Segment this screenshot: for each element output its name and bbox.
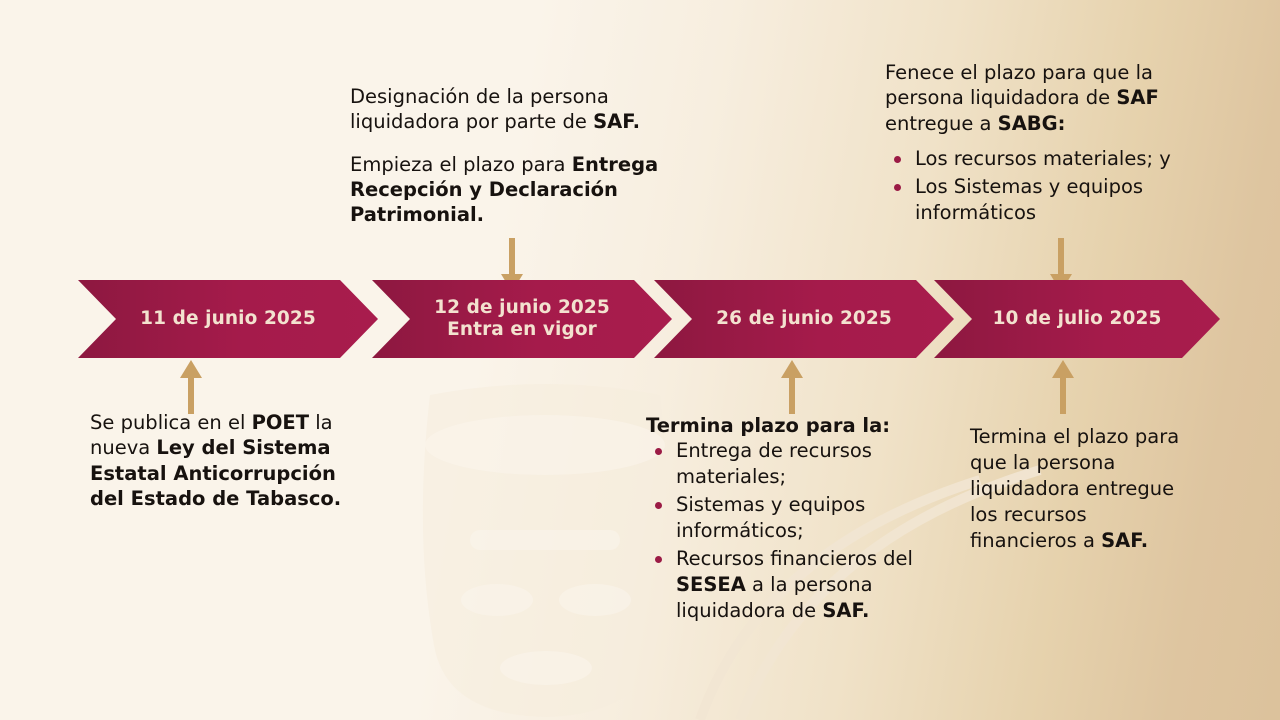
- callout-top-milestone-4: Fenece el plazo para que la persona liqu…: [885, 60, 1205, 228]
- milestone-1-date: 11 de junio 2025: [140, 308, 316, 330]
- list-item: Sistemas y equipos informáticos;: [646, 492, 916, 544]
- callout-top-m4-intro: Fenece el plazo para que la persona liqu…: [885, 60, 1205, 136]
- bullet-1-plain: Entrega de recursos materiales;: [676, 439, 872, 488]
- callout-bottom-milestone-3: Termina plazo para la: Entrega de recurs…: [646, 413, 916, 626]
- arrow-up-m4: [1042, 358, 1084, 414]
- callout-bottom-m1-plain-a: Se publica en el: [90, 411, 252, 434]
- callout-top-m4-bullet-list: Los recursos materiales; y Los Sistemas …: [885, 146, 1205, 226]
- callout-top-m4-intro-bold-b: SABG:: [998, 112, 1066, 135]
- callout-bottom-m1-text: Se publica en el POET la nueva Ley del S…: [90, 410, 350, 511]
- timeline-milestone-3[interactable]: 26 de junio 2025: [654, 280, 954, 358]
- list-item: Entrega de recursos materiales;: [646, 438, 916, 490]
- arrow-up-m3: [771, 358, 813, 414]
- callout-bottom-m3-title: Termina plazo para la:: [646, 413, 916, 438]
- callout-bottom-milestone-4: Termina el plazo para que la persona liq…: [970, 424, 1198, 554]
- milestone-4-date: 10 de julio 2025: [993, 308, 1162, 330]
- list-item: Los Sistemas y equipos informáticos: [885, 174, 1205, 226]
- callout-bottom-m3-bullet-list: Entrega de recursos materiales; Sistemas…: [646, 438, 916, 623]
- list-item: Los recursos materiales; y: [885, 146, 1205, 172]
- milestone-2-subtitle: Entra en vigor: [447, 319, 597, 341]
- bullet-3-plain-a: Recursos financieros del: [676, 547, 913, 570]
- timeline-chevron-bar: 11 de junio 2025 12 de junio 2025 Entra …: [78, 280, 1220, 358]
- bullet-3-bold-b: SAF.: [822, 599, 869, 622]
- milestone-3-date: 26 de junio 2025: [716, 308, 892, 330]
- list-item: Recursos financieros del SESEA a la pers…: [646, 546, 916, 624]
- milestone-2-date: 12 de junio 2025: [434, 297, 610, 319]
- callout-top-milestone-2: Designación de la persona liquidadora po…: [350, 84, 680, 228]
- callout-bottom-m4-bold-a: SAF.: [1101, 529, 1148, 552]
- callout-top-m2-paragraph-2: Empieza el plazo para Entrega Recepción …: [350, 152, 680, 228]
- callout-top-m4-intro-bold-a: SAF: [1116, 86, 1158, 109]
- timeline-milestone-1[interactable]: 11 de junio 2025: [78, 280, 378, 358]
- arrow-up-m1: [170, 358, 212, 414]
- bullet-3-bold-a: SESEA: [676, 573, 746, 596]
- timeline-milestone-4[interactable]: 10 de julio 2025: [934, 280, 1220, 358]
- callout-top-m2-p2-plain: Empieza el plazo para: [350, 153, 572, 176]
- callout-bottom-milestone-1: Se publica en el POET la nueva Ley del S…: [90, 410, 350, 511]
- bullet-2-plain: Sistemas y equipos informáticos;: [676, 493, 865, 542]
- callout-top-m2-p1-bold: SAF.: [593, 110, 640, 133]
- callout-spacer: [350, 135, 680, 152]
- callout-bottom-m1-bold-a: POET: [252, 411, 310, 434]
- callout-top-m2-paragraph-1: Designación de la persona liquidadora po…: [350, 84, 680, 135]
- timeline-milestone-2[interactable]: 12 de junio 2025 Entra en vigor: [372, 280, 672, 358]
- callout-top-m2-p1-plain: Designación de la persona liquidadora po…: [350, 85, 609, 133]
- callout-top-m4-intro-plain-b: entregue a: [885, 112, 998, 135]
- callout-top-m4-intro-plain-a: Fenece el plazo para que la persona liqu…: [885, 61, 1153, 109]
- callout-bottom-m4-text: Termina el plazo para que la persona liq…: [970, 424, 1198, 554]
